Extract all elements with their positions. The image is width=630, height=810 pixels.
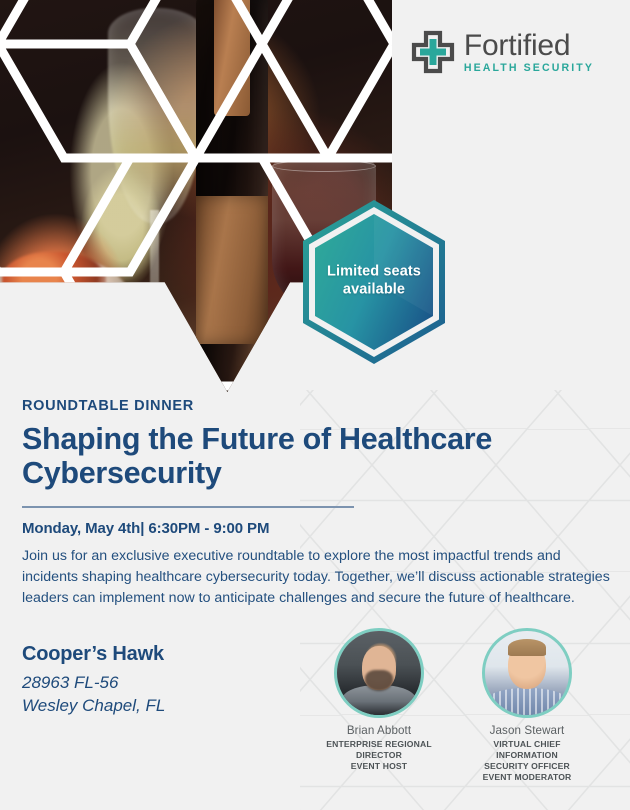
event-description: Join us for an exclusive executive round… [22,546,610,608]
avatar [334,628,424,718]
limited-seats-badge: Limited seats available [298,198,450,366]
event-details: ROUNDTABLE DINNER Shaping the Future of … [22,398,608,608]
venue-address-line-2: Wesley Chapel, FL [22,694,165,717]
venue-block: Cooper’s Hawk 28963 FL-56 Wesley Chapel,… [22,643,165,718]
speaker-role-line-2: EVENT HOST [318,761,440,772]
speaker-role: VIRTUAL CHIEF INFORMATION SECURITY OFFIC… [466,739,588,783]
logo-tagline: HEALTH SECURITY [464,63,594,74]
title-divider [22,506,354,508]
venue-name: Cooper’s Hawk [22,643,165,666]
speaker-role: ENTERPRISE REGIONAL DIRECTOR EVENT HOST [318,739,440,772]
event-flyer: C | H [0,0,630,810]
speaker-name: Jason Stewart [466,724,588,737]
speaker-card: Brian Abbott ENTERPRISE REGIONAL DIRECTO… [318,628,440,783]
speaker-name: Brian Abbott [318,724,440,737]
speaker-card: Jason Stewart VIRTUAL CHIEF INFORMATION … [466,628,588,783]
food-side [0,300,68,346]
avatar [482,628,572,718]
medical-cross-icon [411,30,455,74]
page-title: Shaping the Future of Healthcare Cyberse… [22,422,522,490]
event-datetime: Monday, May 4th| 6:30PM - 9:00 PM [22,520,608,537]
speaker-portrait [337,631,421,715]
portrait-hair [508,639,547,656]
speaker-role-line-1: ENTERPRISE REGIONAL DIRECTOR [318,739,440,761]
speaker-role-line-3: EVENT MODERATOR [466,772,588,783]
venue-address-line-1: 28963 FL-56 [22,671,165,694]
portrait-shirt [487,688,568,715]
fortified-logo: Fortified HEALTH SECURITY [411,30,594,74]
speakers-list: Brian Abbott ENTERPRISE REGIONAL DIRECTO… [318,628,610,783]
speaker-role-line-2: SECURITY OFFICER [466,761,588,772]
speaker-role-line-1: VIRTUAL CHIEF INFORMATION [466,739,588,761]
speaker-portrait [485,631,569,715]
event-kicker: ROUNDTABLE DINNER [22,398,608,414]
logo-wordmark: Fortified [464,31,594,61]
